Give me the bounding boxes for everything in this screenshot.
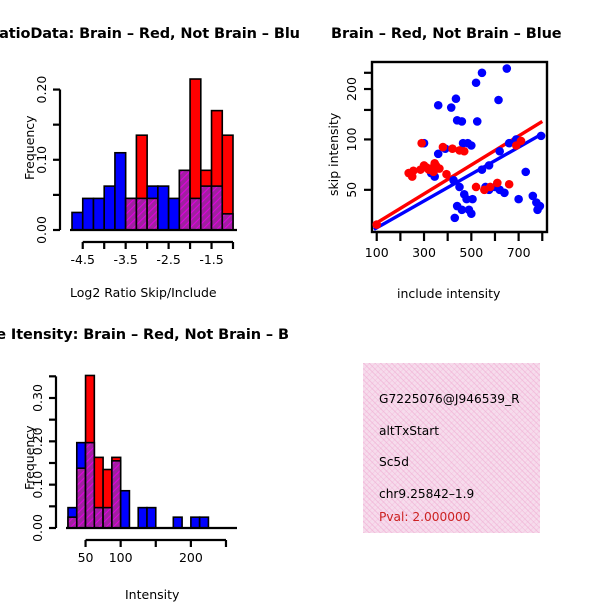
histogram-bin [104, 186, 115, 230]
scatter-point [473, 117, 482, 126]
x-axis-tick-label: 500 [459, 245, 483, 260]
histogram-bar-not-brain [200, 517, 209, 528]
gene-info-box: G7225076@J946539_R altTxStart Sc5d chr9.… [363, 363, 540, 533]
scatter-point [493, 179, 502, 188]
scatter-point [500, 189, 509, 198]
y-axis-tick-label: 0.10 [30, 471, 45, 499]
scatter-point [442, 170, 451, 179]
scatter-content [372, 64, 545, 229]
y-axis-tick-label: 50 [344, 182, 359, 198]
y-axis-tick-label: 0.30 [30, 384, 45, 412]
gene-info-line-gene-symbol: Sc5d [379, 455, 409, 469]
histogram-bin [115, 153, 126, 230]
x-axis-tick-label: 100 [109, 550, 133, 565]
histogram-bin [212, 111, 223, 230]
histogram-bar-overlap [190, 198, 201, 230]
histogram-bar-not-brain [72, 212, 83, 230]
histogram-bin [77, 443, 86, 528]
histogram-bin [190, 79, 201, 230]
gene-info-line-event-type: altTxStart [379, 424, 439, 438]
histogram-bin [103, 470, 112, 529]
histogram-bar-not-brain [104, 186, 115, 230]
x-axis-tick-label: -4.5 [71, 252, 95, 267]
histogram-bar-not-brain [191, 517, 200, 528]
x-axis-tick-label: -1.5 [199, 252, 223, 267]
histogram-bin [158, 186, 169, 230]
histogram-bar-not-brain [138, 508, 147, 528]
histogram-bar-not-brain [147, 508, 156, 528]
histogram-bar-overlap [136, 198, 147, 230]
histogram-bar-not-brain [93, 198, 104, 230]
scatter-point [450, 214, 459, 223]
histogram-bar-overlap [212, 186, 223, 230]
histogram-bin [93, 198, 104, 230]
intensity-scatter-panel: Brain – Red, Not Brain – Blue skip inten… [300, 0, 600, 310]
histogram-bar-not-brain [169, 198, 180, 230]
scatter-point [494, 96, 503, 105]
histogram-bar-not-brain [83, 198, 94, 230]
ratio-histogram-panel: RatioData: Brain – Red, Not Brain – Blu … [0, 0, 300, 310]
histogram-bin [112, 457, 121, 528]
gene-info-line-locus: chr9.25842–1.9 [379, 487, 474, 501]
histogram-bar-not-brain [121, 491, 130, 528]
histogram-bin [201, 170, 212, 230]
x-axis-tick-label: -3.5 [113, 252, 137, 267]
histogram-bar-overlap [179, 170, 190, 230]
histogram-bin [86, 375, 95, 528]
gene-info-panel: G7225076@J946539_R altTxStart Sc5d chr9.… [300, 300, 600, 600]
histogram-bar-not-brain [115, 153, 126, 230]
gene-info-line-probe: G7225076@J946539_R [379, 392, 520, 406]
gene-intensity-histogram-panel: ne Itensity: Brain – Red, Not Brain – B … [0, 300, 300, 600]
histogram-bin [138, 508, 147, 528]
histogram-bar-not-brain [173, 517, 182, 528]
scatter-point [514, 195, 523, 204]
histogram-bar-overlap [103, 508, 112, 528]
x-axis-tick-label: 200 [179, 550, 203, 565]
histogram-bar-overlap [112, 461, 121, 528]
histogram-bin [200, 517, 209, 528]
histogram-bar-overlap [222, 214, 233, 230]
x-axis-tick-label: 700 [507, 245, 531, 260]
scatter-point [372, 220, 381, 229]
histogram-bar-overlap [77, 468, 86, 528]
scatter-point [472, 183, 481, 192]
scatter-point [478, 165, 487, 174]
scatter-point [472, 78, 481, 87]
gene-intensity-histogram-plot: 0.000.100.200.3050100200 [0, 300, 300, 600]
y-axis-tick-label: 0.20 [34, 76, 49, 104]
histogram-bin [136, 135, 147, 230]
scatter-point [536, 202, 545, 211]
histogram-bin [169, 198, 180, 230]
scatter-point [455, 183, 464, 192]
scatter-point [447, 103, 456, 112]
scatter-point [417, 139, 426, 148]
x-axis-tick-label: 100 [365, 245, 389, 260]
scatter-point [505, 180, 514, 189]
scatter-point [478, 68, 487, 77]
histogram-bin [94, 457, 103, 528]
histogram-bin [72, 212, 83, 230]
histogram-bar-overlap [201, 186, 212, 230]
x-axis-tick-label: 50 [78, 550, 94, 565]
scatter-point [468, 195, 477, 204]
scatter-point [521, 168, 530, 177]
ratio-histogram-plot: 0.000.100.20-4.5-3.5-2.5-1.5 [0, 0, 300, 310]
histogram-bin [83, 198, 94, 230]
histogram-bar-not-brain [158, 186, 169, 230]
scatter-point [449, 176, 458, 185]
scatter-point [460, 147, 469, 156]
intensity-scatter-plot: 50100200100300500700 [300, 0, 600, 310]
scatter-point [537, 132, 546, 141]
scatter-point [495, 147, 504, 156]
y-axis-tick-label: 100 [344, 127, 359, 151]
x-axis-tick-label: -2.5 [156, 252, 180, 267]
histogram-bin [147, 186, 158, 230]
histogram-bin [179, 170, 190, 230]
scatter-point [467, 141, 476, 150]
y-axis-tick-label: 0.20 [30, 427, 45, 455]
gene-info-pval: Pval: 2.000000 [379, 510, 471, 524]
histogram-bar-overlap [147, 198, 158, 230]
histogram-bin [191, 517, 200, 528]
histogram-bar-overlap [86, 443, 95, 528]
y-axis-tick-label: 0.00 [30, 514, 45, 542]
x-axis-tick-label: 300 [412, 245, 436, 260]
histogram-bin [126, 198, 137, 230]
scatter-point [517, 137, 526, 146]
histogram-bar-overlap [68, 517, 77, 528]
scatter-point [452, 94, 461, 103]
scatter-point [458, 117, 467, 126]
scatter-point [439, 143, 448, 152]
histogram-bin [68, 508, 77, 528]
y-axis-tick-label: 0.10 [34, 146, 49, 174]
y-axis-tick-label: 200 [344, 77, 359, 101]
scatter-point [434, 101, 443, 110]
histogram-bin [121, 491, 130, 528]
histogram-bin [222, 135, 233, 230]
histogram-bar-overlap [126, 198, 137, 230]
histogram-bin [173, 517, 182, 528]
histogram-bar-overlap [94, 508, 103, 528]
scatter-point [467, 209, 476, 218]
histogram-bin [147, 508, 156, 528]
y-axis-tick-label: 0.00 [34, 216, 49, 244]
scatter-point [502, 64, 511, 73]
scatter-point [435, 164, 444, 173]
